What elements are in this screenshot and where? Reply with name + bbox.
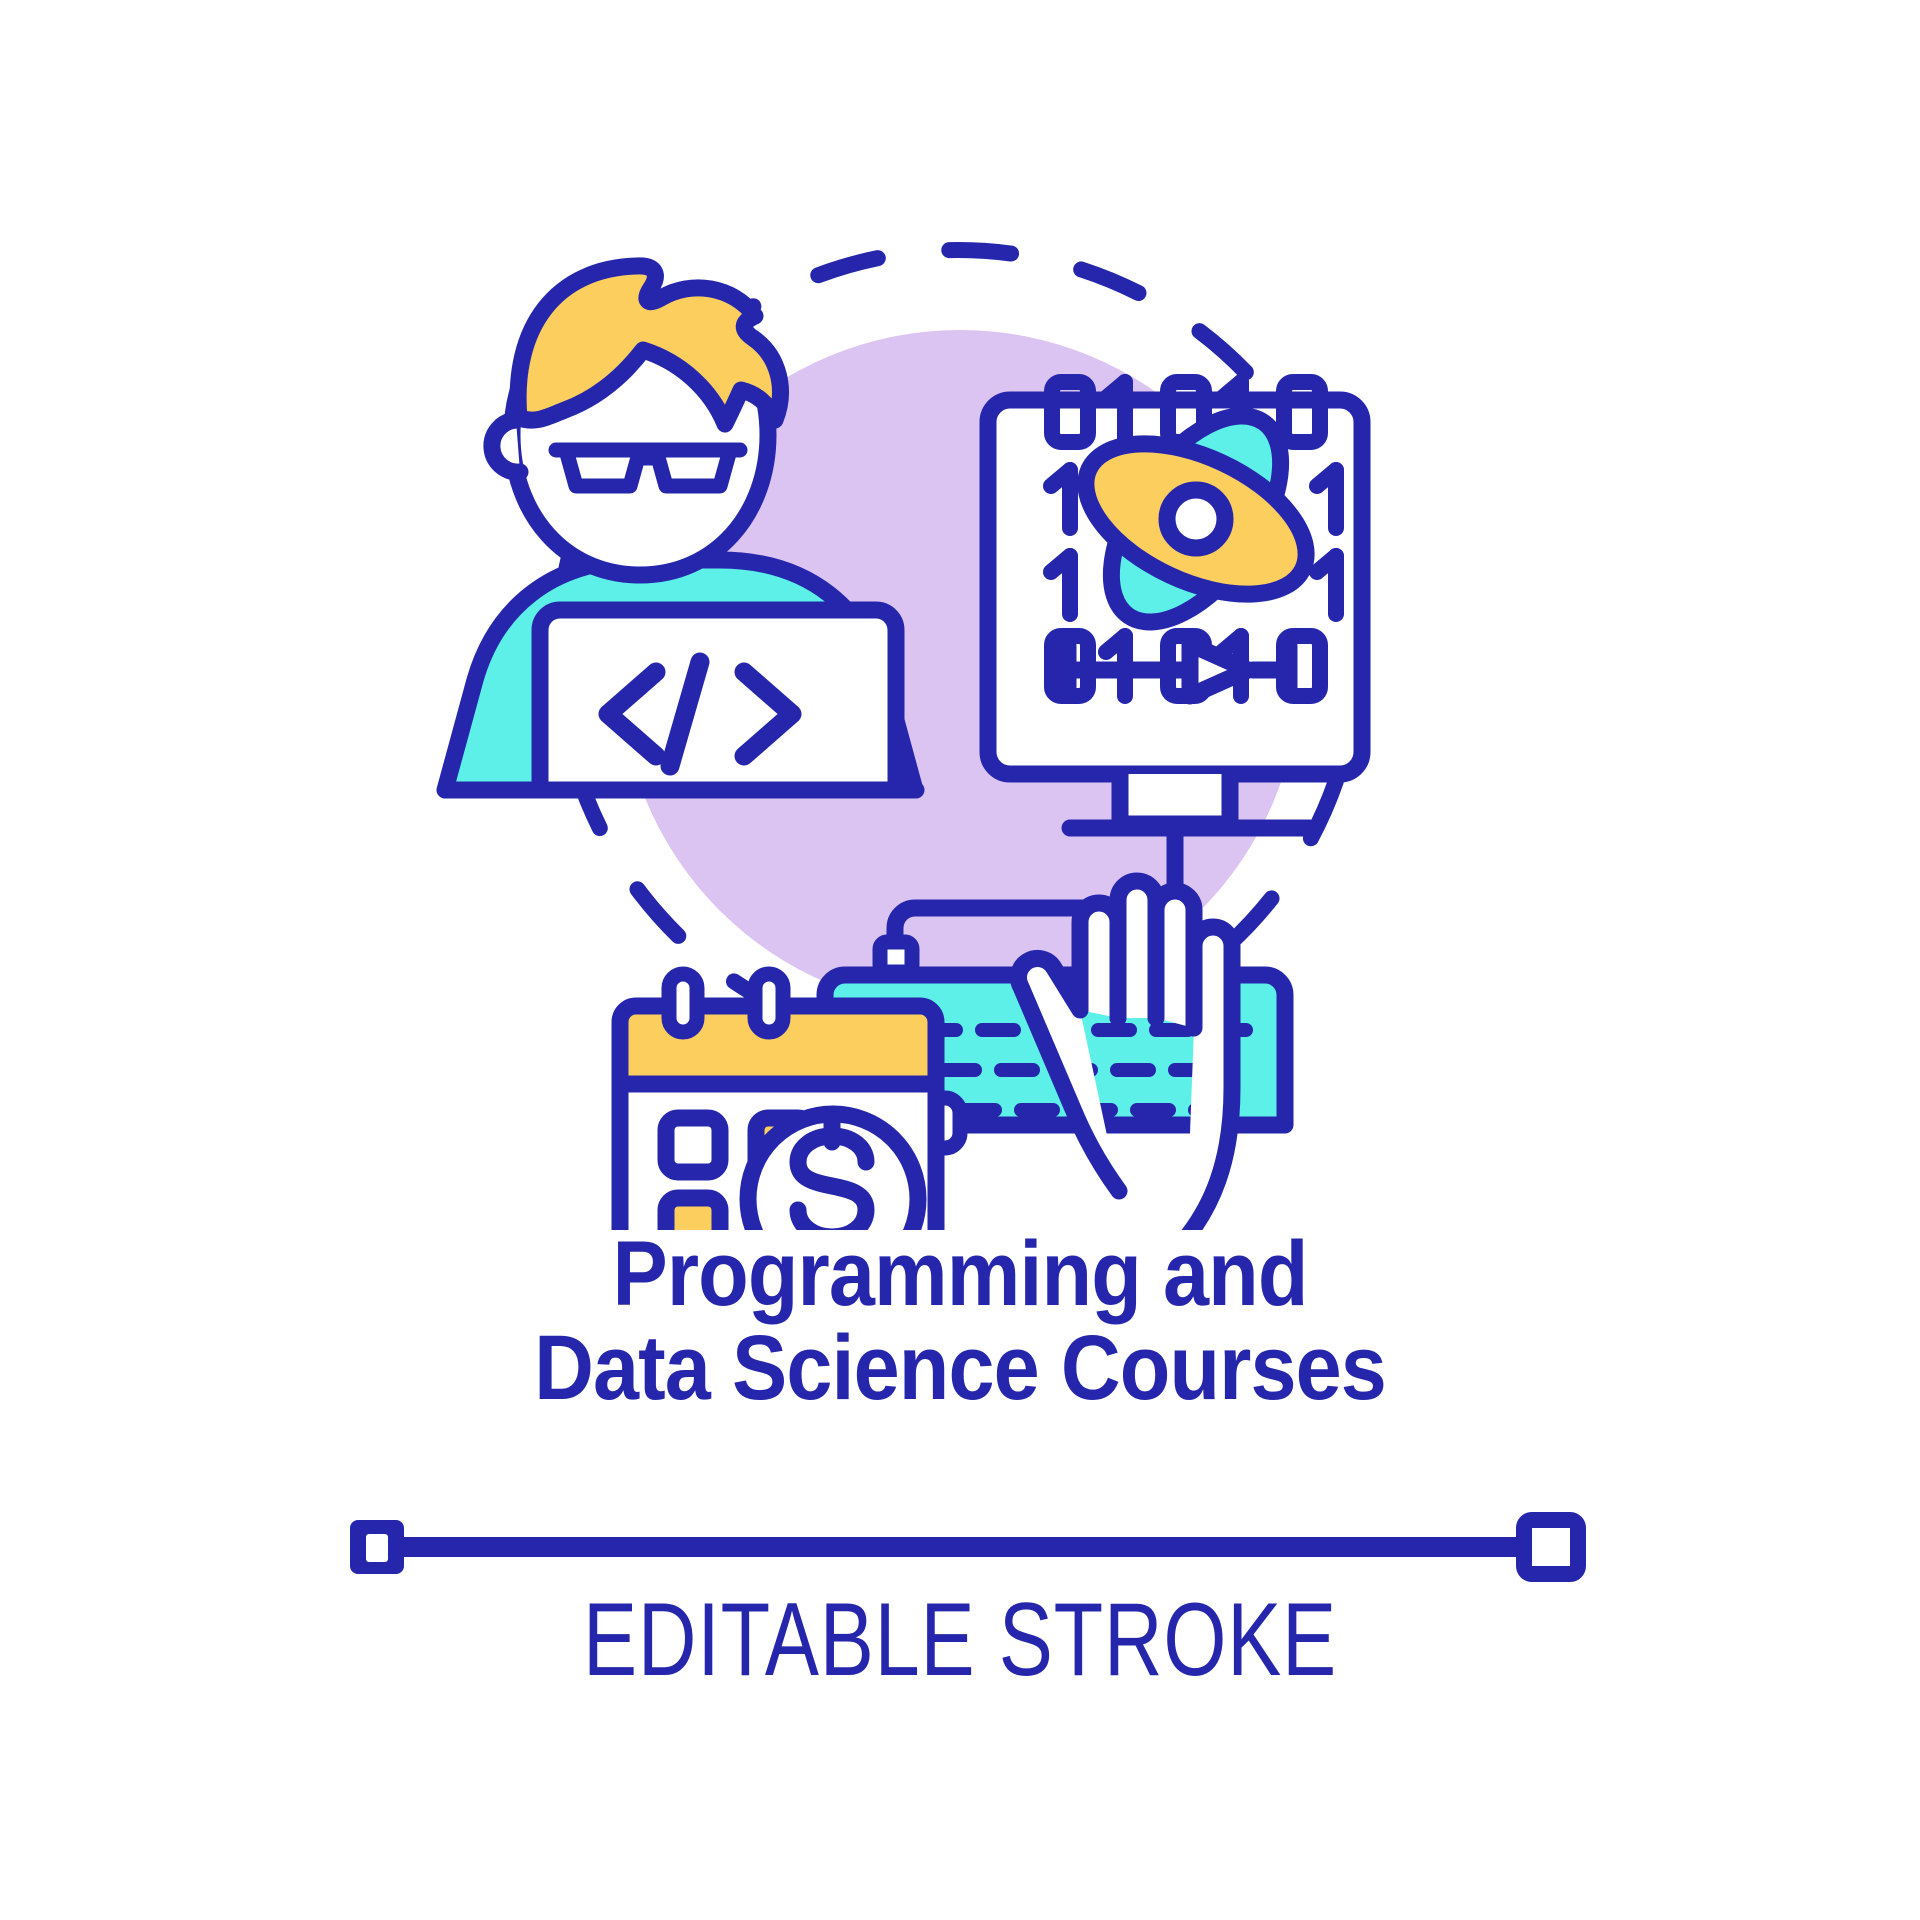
caption-block: Programming andData Science Courses [0, 1228, 1920, 1416]
laptop-code-screen [520, 610, 916, 790]
editable-stroke-label: EDITABLE STROKE [211, 1588, 1709, 1692]
illustration-svg [0, 0, 1920, 1230]
dollar-coin [748, 1114, 918, 1230]
title-line-1: Programming and [613, 1223, 1308, 1325]
stroke-right-handle[interactable] [1524, 1520, 1578, 1574]
stroke-left-handle-hole [366, 1534, 388, 1562]
page-title: Programming andData Science Courses [96, 1228, 1824, 1416]
title-line-2: Data Science Courses [534, 1317, 1386, 1419]
stroke-bar-line[interactable] [400, 1537, 1528, 1557]
illustration-card: Programming andData Science Courses EDIT… [0, 0, 1920, 1920]
concept-illustration [0, 0, 1920, 1230]
